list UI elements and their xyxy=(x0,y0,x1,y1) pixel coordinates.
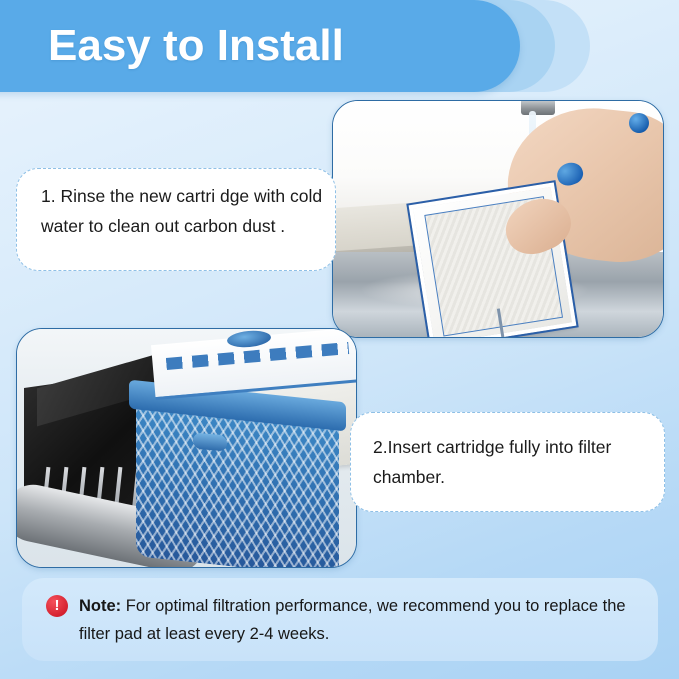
step-2-text: 2.Insert cartridge fully into filter cha… xyxy=(373,437,611,487)
page-title: Easy to Install xyxy=(48,13,344,79)
infographic-page: Easy to Install xyxy=(0,0,679,679)
header-banner: Easy to Install xyxy=(0,0,679,92)
step-1-photo xyxy=(332,100,664,338)
exclamation-icon: ! xyxy=(46,595,68,617)
step-2-photo xyxy=(16,328,357,568)
photo2-chamber-tab xyxy=(193,432,227,451)
step-1-callout: 1. Rinse the new cartri dge with cold wa… xyxy=(16,168,336,271)
note-text: Note: For optimal filtration performance… xyxy=(79,592,636,648)
photo1-blue-knob xyxy=(629,113,649,133)
note-box: ! Note: For optimal filtration performan… xyxy=(22,578,658,661)
faucet-icon xyxy=(521,100,555,115)
step-1-text: 1. Rinse the new cartri dge with cold wa… xyxy=(41,186,322,236)
note-body: For optimal filtration performance, we r… xyxy=(79,597,626,643)
step-2-callout: 2.Insert cartridge fully into filter cha… xyxy=(350,412,665,512)
note-label: Note: xyxy=(79,597,121,615)
